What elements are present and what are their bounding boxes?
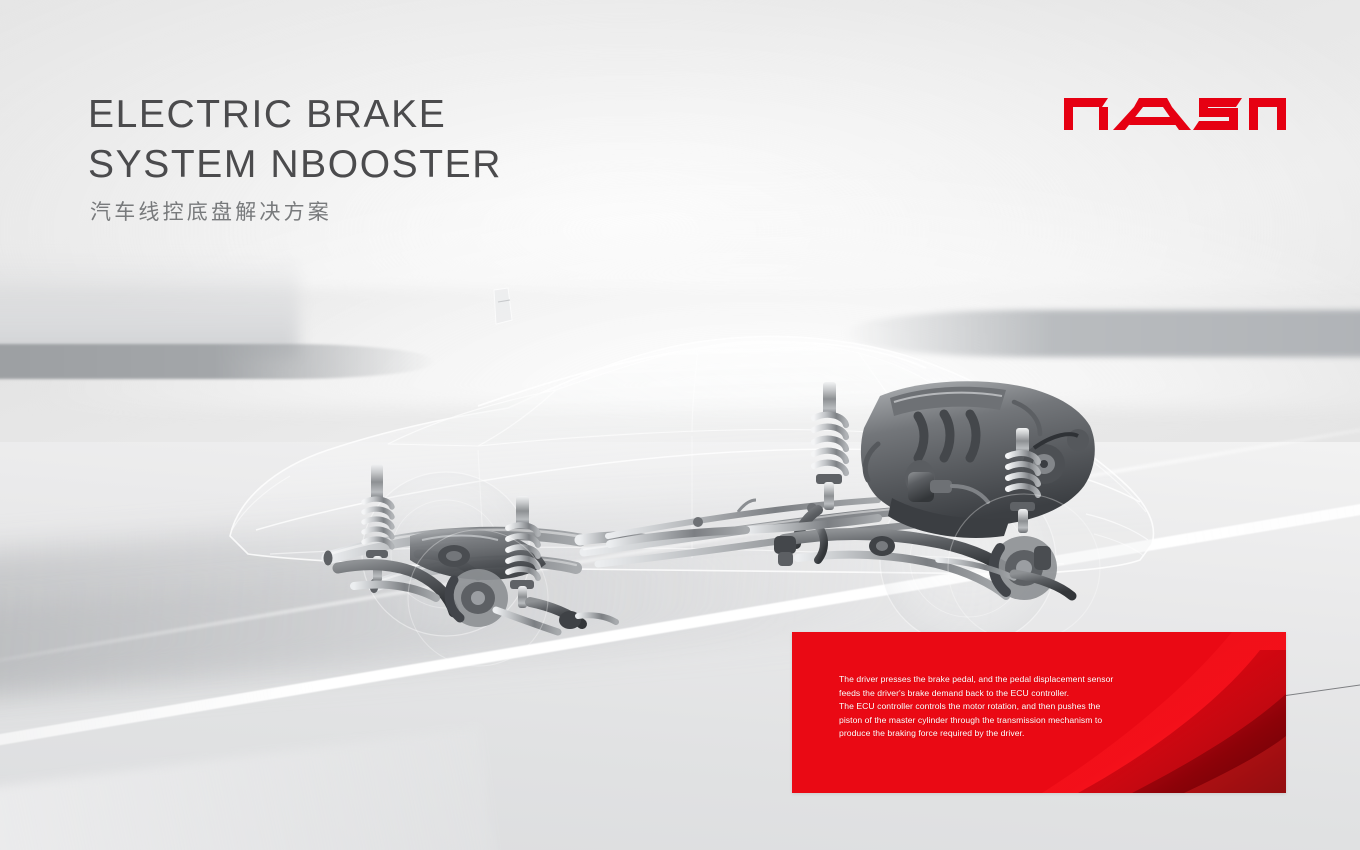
- engine-block: [861, 381, 1095, 538]
- background-right-horizon-band: [843, 310, 1360, 357]
- wheel-ghost-front: [880, 474, 1056, 646]
- front-powertrain-assembly: [774, 381, 1095, 600]
- rear-strut-spring-left: [364, 464, 392, 582]
- background-left-haze: [0, 255, 299, 357]
- description-panel: The driver presses the brake pedal, and …: [792, 632, 1286, 793]
- nasn-logo: [1064, 86, 1286, 130]
- stabilizer-bar: [608, 500, 878, 536]
- rear-brake-disc: [448, 569, 508, 627]
- rear-suspension-assembly: [338, 464, 616, 632]
- brake-master-cylinder: [905, 460, 988, 502]
- page-subtitle: 汽车线控底盘解决方案: [90, 198, 332, 228]
- vehicle-illustration: [178, 268, 1188, 668]
- background-corner-wedge: [0, 727, 496, 850]
- exhaust-pipes: [324, 530, 649, 593]
- background-floor-shadow-secondary: [0, 537, 791, 695]
- car-body-glass: [230, 288, 1154, 574]
- description-text: The driver presses the brake pedal, and …: [839, 673, 1139, 741]
- brake-line-tunnel: [584, 500, 984, 564]
- front-brake-disc: [991, 536, 1057, 600]
- background-left-horizon-band: [0, 344, 435, 379]
- chassis-assembly: [324, 381, 1095, 632]
- wheel-ghost-rear: [362, 472, 530, 636]
- page-title: ELECTRIC BRAKE SYSTEM NBOOSTER: [88, 90, 502, 190]
- rear-strut-spring-right: [508, 496, 538, 608]
- front-strut-spring-left: [796, 382, 846, 544]
- front-strut-spring-right: [1008, 428, 1038, 533]
- slide-canvas: ELECTRIC BRAKE SYSTEM NBOOSTER 汽车线控底盘解决方…: [0, 0, 1360, 850]
- nasn-wordmark-glyphs: [1064, 98, 1286, 130]
